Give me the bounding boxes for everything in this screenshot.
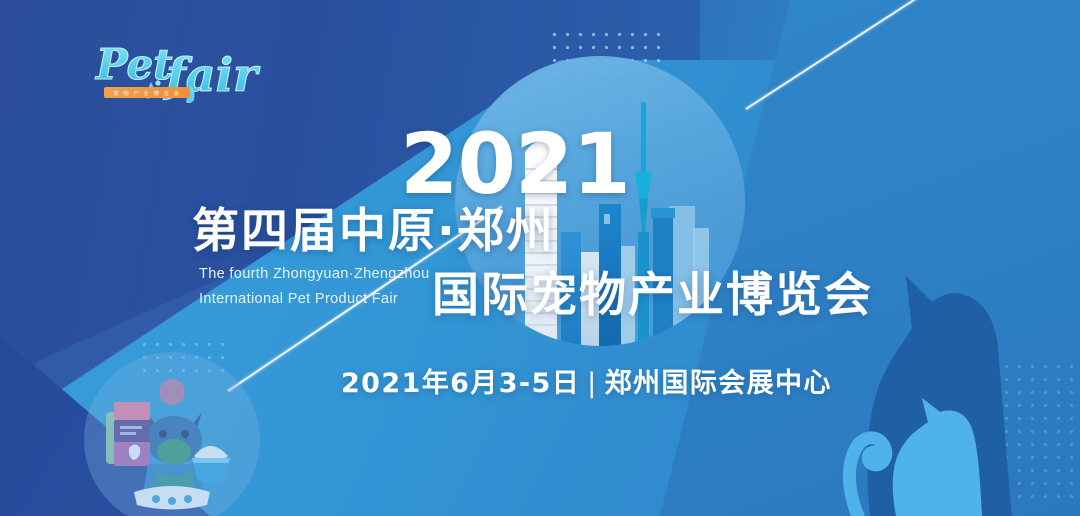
title-english-line1: The fourth Zhongyuan·Zhengzhou <box>199 262 439 287</box>
pet-fair-banner: Pet fair 宠 物 产 业 博 览 会 2021 第四届中原·郑州 The… <box>0 0 1080 516</box>
pet-silhouettes <box>800 216 1080 516</box>
title-english-line2: International Pet Product Fair <box>199 287 439 312</box>
title-chinese-line1: 第四届中原·郑州 <box>192 208 555 255</box>
pet-fair-logo-mark: Pet fair <box>94 33 266 113</box>
logo-badge: 宠 物 产 业 博 览 会 <box>104 87 190 98</box>
event-date: 2021年6月3-5日 <box>341 368 580 399</box>
title-english: The fourth Zhongyuan·Zhengzhou Internati… <box>199 262 439 312</box>
date-venue-separator: | <box>580 368 605 399</box>
svg-text:Pet: Pet <box>95 40 173 89</box>
year-headline: 2021 <box>400 122 630 206</box>
pet-fair-logo[interactable]: Pet fair 宠 物 产 业 博 览 会 <box>94 33 266 113</box>
pet-products-circle-bg <box>84 352 260 516</box>
pet-products-circle-illustration <box>84 352 260 516</box>
logo-badge-text: 宠 物 产 业 博 览 会 <box>113 89 180 97</box>
date-venue-bar: 2021年6月3-5日|郑州国际会展中心 <box>341 370 832 397</box>
event-venue: 郑州国际会展中心 <box>605 368 832 399</box>
